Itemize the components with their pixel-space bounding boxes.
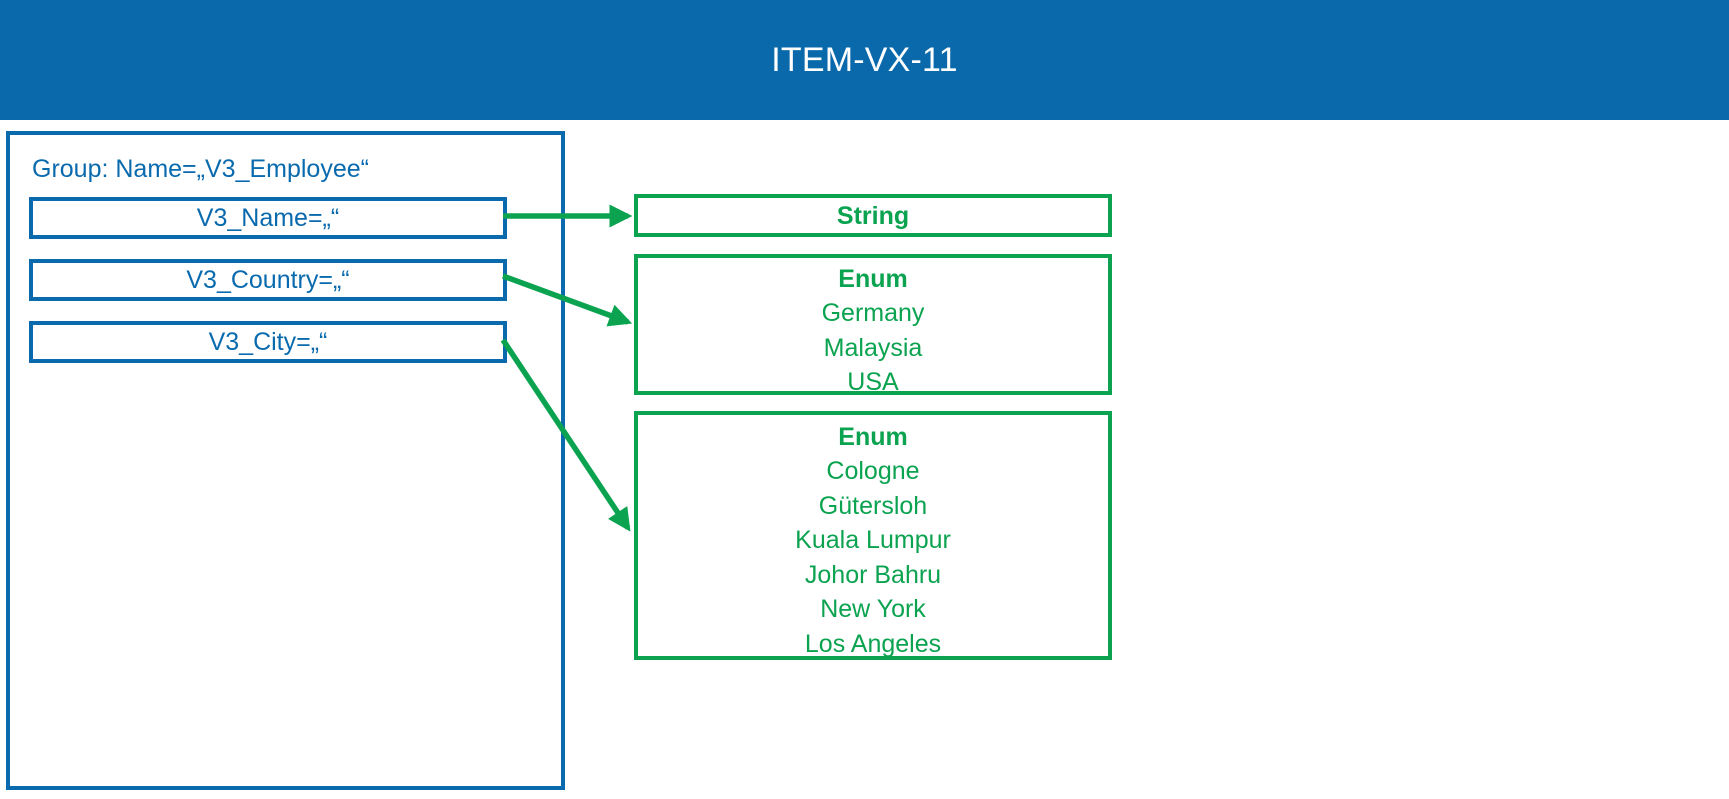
field-box-v3-country[interactable]: V3_Country=„“ [29,259,507,301]
enum-value: Kuala Lumpur [638,523,1108,558]
enum-value: Los Angeles [638,627,1108,662]
type-box-enum-city[interactable]: Enum Cologne Gütersloh Kuala Lumpur Joho… [634,411,1112,660]
group-label: Group: Name=„V3_Employee“ [32,155,369,184]
field-label: V3_Name=„“ [197,206,339,231]
field-box-v3-city[interactable]: V3_City=„“ [29,321,507,363]
enum-value: New York [638,592,1108,627]
field-box-v3-name[interactable]: V3_Name=„“ [29,197,507,239]
enum-value: USA [638,365,1108,400]
enum-value: Johor Bahru [638,558,1108,593]
field-label: V3_Country=„“ [186,268,349,293]
enum-value: Malaysia [638,331,1108,366]
field-label: V3_City=„“ [209,330,328,355]
diagram-canvas: ITEM-VX-11 Group: Name=„V3_Employee“ V3_… [0,0,1729,799]
page-title: ITEM-VX-11 [0,0,1729,120]
type-box-string[interactable]: String [634,194,1112,237]
type-box-title: Enum [638,262,1108,296]
enum-value: Germany [638,296,1108,331]
type-box-enum-country[interactable]: Enum Germany Malaysia USA [634,254,1112,395]
enum-value: Gütersloh [638,489,1108,524]
group-panel: Group: Name=„V3_Employee“ V3_Name=„“ V3_… [6,131,565,790]
type-box-title: Enum [638,420,1108,454]
enum-value: Cologne [638,454,1108,489]
type-box-title: String [837,199,909,233]
